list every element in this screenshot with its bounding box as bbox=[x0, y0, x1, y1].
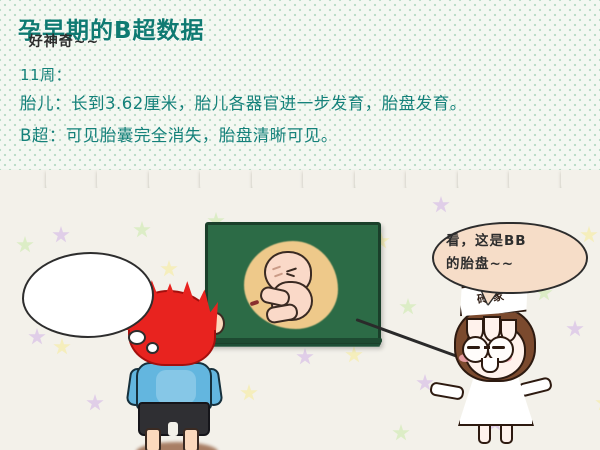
thought-bubble-dot-small bbox=[146, 342, 159, 354]
glasses-bridge bbox=[484, 346, 490, 349]
umbilical-cord-mark bbox=[250, 300, 260, 307]
boy-leg-left bbox=[145, 428, 161, 450]
fetus-brow bbox=[272, 266, 281, 271]
thought-bubble-dot-large bbox=[128, 330, 146, 345]
blackboard-ledge-lower bbox=[210, 344, 380, 347]
boy-leg-right bbox=[183, 428, 199, 450]
nurse-mouth bbox=[481, 358, 499, 373]
fetus-brow-2 bbox=[274, 273, 283, 278]
nurse-eye-right bbox=[492, 346, 505, 349]
boy-shorts-gap bbox=[168, 422, 178, 436]
blackboard bbox=[205, 222, 381, 346]
comic-panel: 孕早期的B超数据 11周： 胎儿：长到3.62厘米，胎儿各器官进一步发育，胎盘发… bbox=[0, 0, 600, 450]
speech-line-2: 的胎盘~~ bbox=[446, 253, 576, 276]
bscan-description-line: B超：可见胎囊完全消失，胎盘清晰可见。 bbox=[20, 122, 338, 146]
fetus-description-line: 胎儿：长到3.62厘米，胎儿各器官进一步发育，胎盘发育。 bbox=[20, 90, 467, 114]
boy-shirt-highlight bbox=[156, 370, 196, 404]
fetus-eye-2 bbox=[286, 273, 295, 278]
thought-bubble bbox=[22, 252, 154, 338]
speech-line-1: 看，这是BB bbox=[446, 230, 576, 253]
thought-bubble-text: 好神奇~~ bbox=[0, 0, 128, 82]
fetus-leg bbox=[265, 302, 299, 324]
nurse-character: 砖家 bbox=[440, 292, 560, 437]
speech-bubble-text: 看，这是BB 的胎盘~~ bbox=[446, 230, 576, 276]
nurse-eye-left bbox=[467, 346, 480, 349]
